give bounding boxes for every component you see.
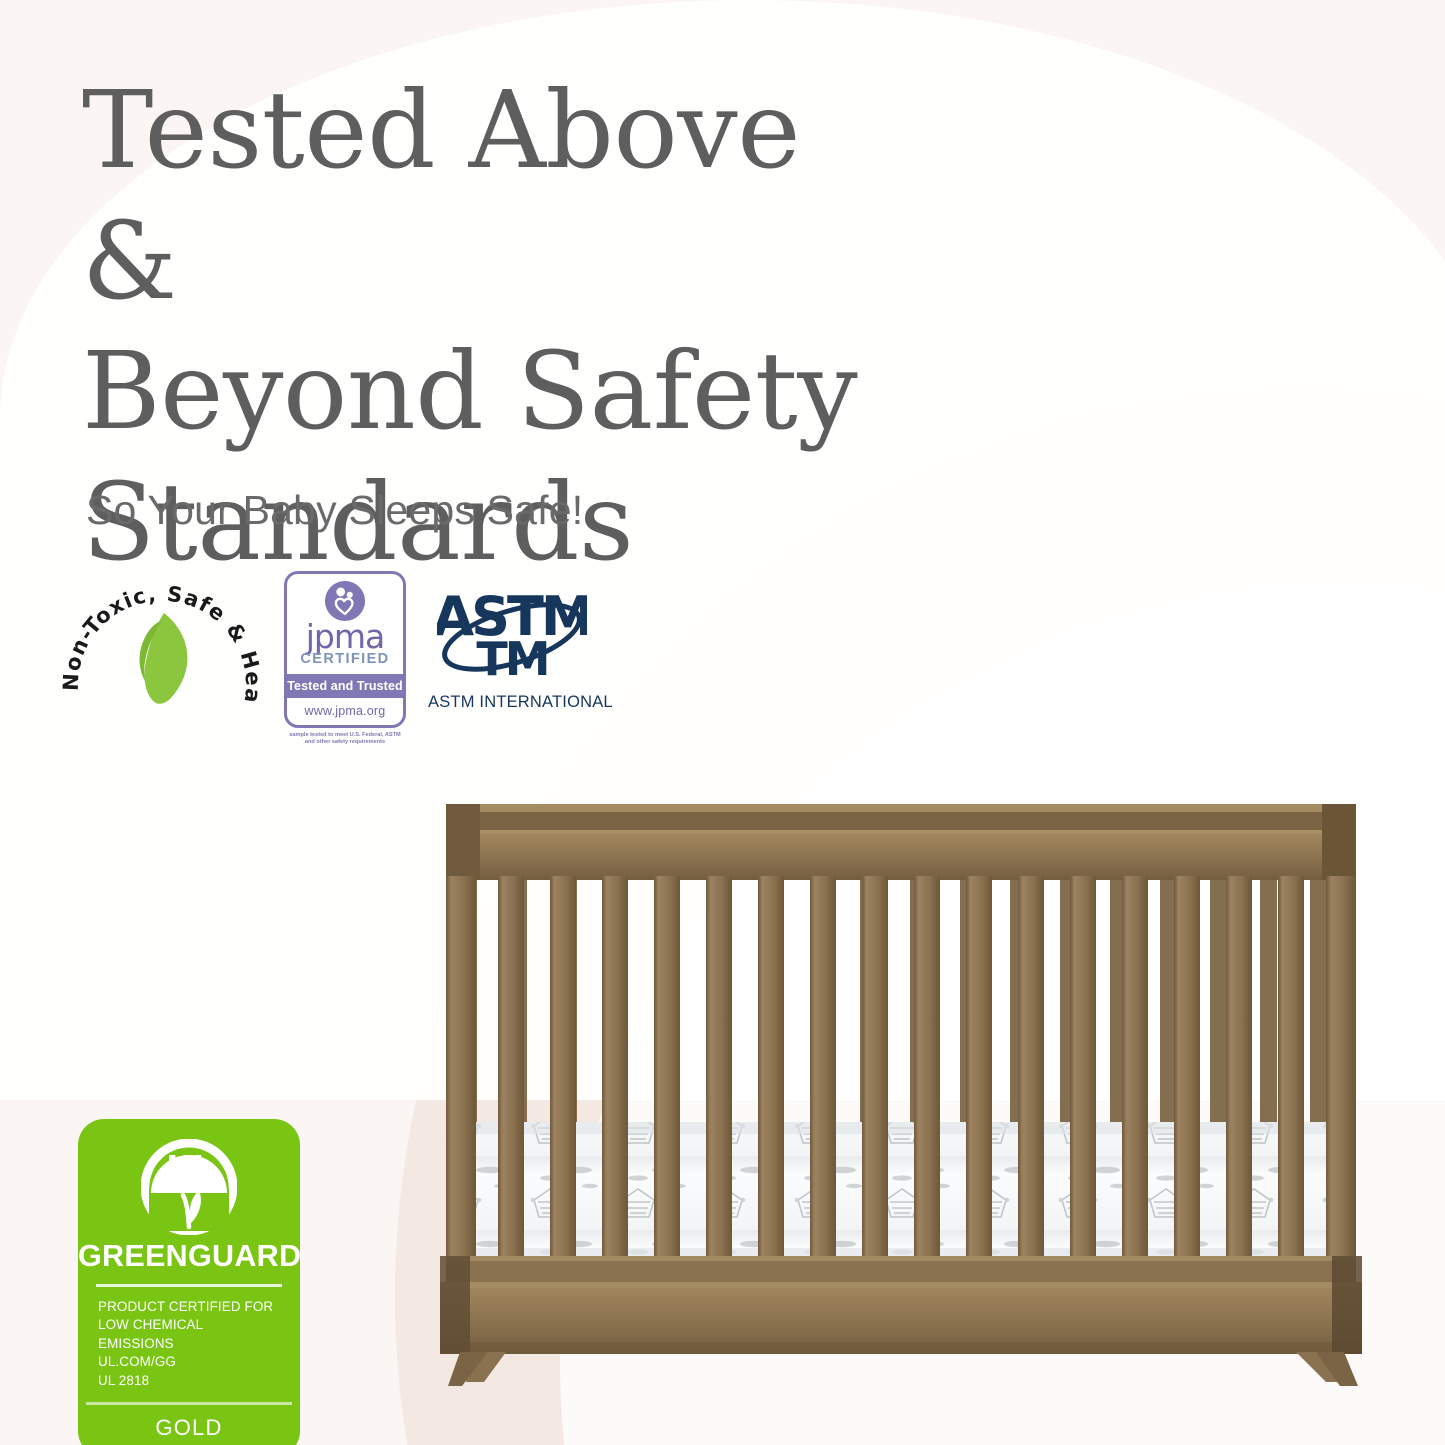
greenguard-gold-badge: UL GREENGUARD PRODUCT CERTIFIED FOR LOW … (78, 1119, 300, 1445)
jpma-card: jpma CERTIFIED Tested and Trusted www.jp… (284, 571, 406, 728)
parent-and-child-heart-icon (324, 580, 366, 622)
svg-text:TM: TM (476, 632, 547, 686)
astm-monogram-icon: ASTM TM (437, 579, 587, 691)
page-subtitle: So Your Baby Sleeps Safe! (86, 487, 583, 534)
leaf-icon (140, 613, 188, 704)
greenguard-divider-top (96, 1284, 282, 1287)
promo-image-canvas: Tested Above & Beyond Safety Standards S… (0, 0, 1445, 1445)
svg-text:UL: UL (166, 1148, 213, 1187)
ul-leaf-icon: UL (141, 1139, 237, 1235)
astm-international-badge: ASTM TM ASTM INTERNATIONAL (428, 579, 596, 712)
jpma-url: www.jpma.org (287, 698, 403, 725)
greenguard-title: GREENGUARD (78, 1239, 300, 1274)
jpma-certified-label: CERTIFIED (287, 651, 403, 667)
jpma-wordmark: jpma (287, 622, 403, 652)
jpma-certified-badge: jpma CERTIFIED Tested and Trusted www.jp… (284, 571, 406, 747)
jpma-tested-trusted-band: Tested and Trusted (287, 674, 403, 698)
non-toxic-safe-healthy-badge: Non-Toxic, Safe & Healthy (62, 565, 262, 725)
crib-base-rail (440, 1256, 1362, 1354)
crib-top-rail (446, 804, 1356, 880)
certification-badge-row: Non-Toxic, Safe & Healthy (62, 565, 596, 747)
greenguard-tier: GOLD (78, 1405, 300, 1445)
jpma-header: jpma CERTIFIED (287, 574, 403, 674)
crib-legs (448, 1352, 1358, 1386)
convertible-crib (432, 786, 1370, 1386)
astm-label: ASTM INTERNATIONAL (428, 693, 596, 712)
greenguard-body-text: PRODUCT CERTIFIED FOR LOW CHEMICAL EMISS… (78, 1298, 300, 1403)
jpma-fine-print: sample tested to meet U.S. Federal, ASTM… (284, 728, 406, 747)
